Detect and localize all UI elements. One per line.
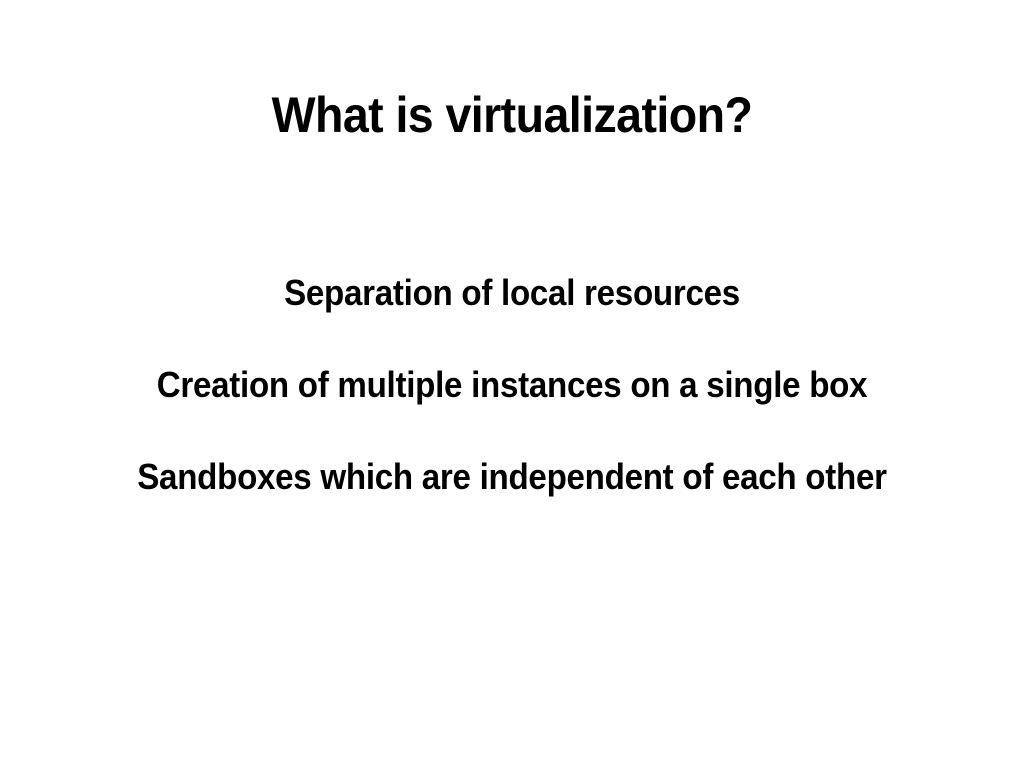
body-line-1: Separation of local resources	[41, 272, 983, 314]
slide-body-text-block: Separation of local resources Creation o…	[0, 272, 1024, 498]
page-title: What is virtualization?	[36, 86, 988, 144]
body-line-2: Creation of multiple instances on a sing…	[41, 364, 983, 406]
body-line-3: Sandboxes which are independent of each …	[41, 456, 983, 498]
presentation-slide: What is virtualization? Separation of lo…	[0, 0, 1024, 768]
slide-empty-lower-region	[0, 520, 1024, 768]
